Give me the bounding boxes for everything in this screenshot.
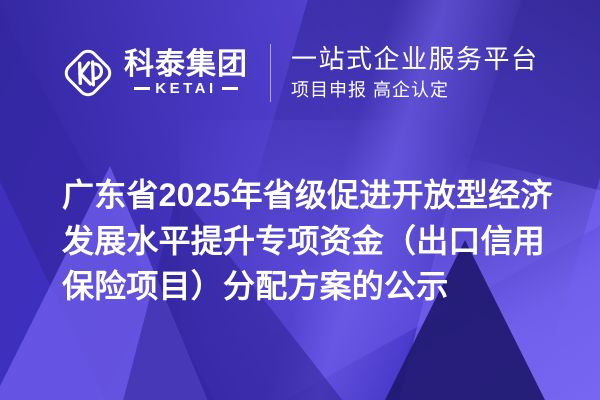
brand-name-cn: 科泰集团 bbox=[124, 50, 248, 81]
ketai-diamond-monogram-icon bbox=[62, 47, 114, 99]
page-title-line-2: 发展水平提升专项资金（出口信用 bbox=[62, 219, 548, 264]
brand-name-en-row: KETAI bbox=[124, 81, 248, 96]
vertical-divider-icon bbox=[270, 44, 271, 102]
tagline-main: 一站式企业服务平台 bbox=[291, 44, 539, 75]
wordmark-rule-right-icon bbox=[222, 87, 238, 90]
page-title: 广东省2025年省级促进开放型经济 发展水平提升专项资金（出口信用 保险项目）分… bbox=[62, 173, 548, 309]
promo-banner: 科泰集团 KETAI 一站式企业服务平台 项目申报 高企认定 广东省2025年省… bbox=[0, 0, 600, 400]
tagline-sub: 项目申报 高企认定 bbox=[291, 79, 539, 102]
brand-logo[interactable]: 科泰集团 KETAI bbox=[62, 47, 248, 99]
tagline-block: 一站式企业服务平台 项目申报 高企认定 bbox=[291, 44, 539, 101]
page-title-line-1: 广东省2025年省级促进开放型经济 bbox=[62, 173, 548, 218]
page-title-line-3: 保险项目）分配方案的公示 bbox=[62, 264, 548, 309]
brand-name-en: KETAI bbox=[150, 81, 221, 96]
wordmark-rule-left-icon bbox=[134, 87, 150, 90]
brand-wordmark: 科泰集团 KETAI bbox=[124, 50, 248, 97]
banner-header: 科泰集团 KETAI 一站式企业服务平台 项目申报 高企认定 bbox=[62, 44, 539, 102]
